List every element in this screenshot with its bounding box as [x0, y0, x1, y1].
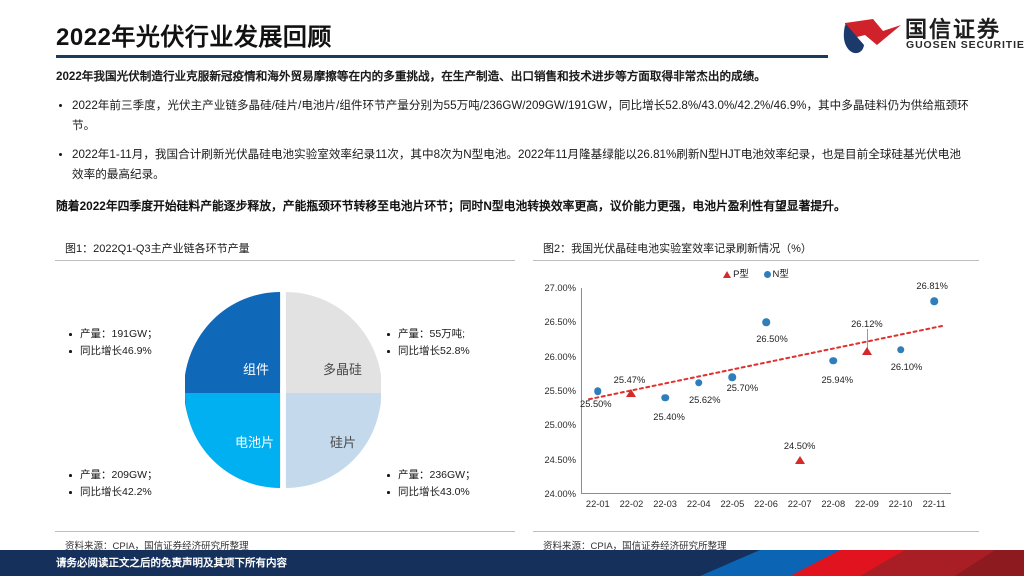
y-axis-tick: 24.00% [544, 489, 576, 499]
data-point-label: 25.62% [689, 395, 721, 405]
logo-text-en: GUOSEN SECURITIES [906, 39, 1024, 51]
callout-line: 产量：236GW； [385, 467, 476, 484]
data-point-n-type [897, 346, 905, 354]
pie-callout-bottom-left: 产量：209GW； 同比增长42.2% [67, 467, 158, 501]
data-point-label: 26.81% [916, 281, 948, 291]
triangle-marker-icon [723, 271, 731, 278]
legend-label-p: P型 [733, 269, 749, 280]
x-axis-tick: 22-11 [923, 499, 946, 509]
data-point-label: 26.12% [851, 319, 883, 329]
footer-disclaimer: 请务必阅读正文之后的免责声明及其项下所有内容 [56, 555, 287, 570]
callout-line: 同比增长42.2% [67, 484, 158, 501]
plot-area: 24.00%24.50%25.00%25.50%26.00%26.50%27.0… [581, 288, 951, 494]
x-axis-tick: 22-06 [754, 499, 778, 509]
x-axis-tick: 22-07 [788, 499, 812, 509]
slide-footer: 请务必阅读正文之后的免责声明及其项下所有内容 [0, 550, 1024, 576]
slide: 2022年光伏行业发展回顾 国信证券 GUOSEN SECURITIES 202… [0, 0, 1024, 576]
figure1-panel: 图1：2022Q1-Q3主产业链各环节产量 组件 多晶硅 电池片 硅片 [55, 236, 515, 554]
pie-slice-q1 [286, 292, 381, 387]
data-point-label: 24.50% [784, 441, 816, 451]
callout-line: 产量：55万吨; [385, 326, 470, 343]
pie-slice-q2 [185, 292, 280, 387]
data-point-label: 25.47% [614, 375, 646, 385]
y-axis-tick: 26.50% [544, 317, 576, 327]
divider [55, 260, 515, 261]
lead-paragraph: 2022年我国光伏制造行业克服新冠疫情和海外贸易摩擦等在内的多重挑战，在生产制造… [56, 68, 968, 85]
slide-header: 2022年光伏行业发展回顾 国信证券 GUOSEN SECURITIES [0, 0, 1024, 62]
x-axis-tick: 22-01 [586, 499, 610, 509]
divider [533, 260, 979, 261]
divider [55, 531, 515, 532]
legend-item-p: P型 [723, 269, 749, 280]
circle-marker-icon [764, 271, 771, 278]
list-item: 2022年前三季度，光伏主产业链多晶硅/硅片/电池片/组件环节产量分别为55万吨… [56, 96, 972, 136]
scatter-chart: P型 N型 24.00%24.50%25.00%25.50%26.00%26.5… [533, 262, 979, 530]
data-point-label: 25.70% [727, 383, 759, 393]
page-title: 2022年光伏行业发展回顾 [56, 17, 332, 52]
pie-svg [185, 292, 381, 488]
callout-line: 同比增长43.0% [385, 484, 476, 501]
pie-callout-bottom-right: 产量：236GW； 同比增长43.0% [385, 467, 476, 501]
y-axis-tick: 26.00% [544, 352, 576, 362]
bullet-list: 2022年前三季度，光伏主产业链多晶硅/硅片/电池片/组件环节产量分别为55万吨… [56, 96, 972, 194]
x-axis-tick: 22-08 [821, 499, 845, 509]
x-axis-tick: 22-09 [855, 499, 879, 509]
conclusion-paragraph: 随着2022年四季度开始硅料产能逐步释放，产能瓶颈环节转移至电池片环节；同时N型… [56, 198, 976, 216]
logo-mark-icon [843, 9, 901, 55]
callout-line: 同比增长52.8% [385, 343, 470, 360]
x-axis-tick: 22-03 [653, 499, 677, 509]
title-underline [56, 55, 828, 58]
y-axis-tick: 25.00% [544, 420, 576, 430]
data-point-label: 25.94% [821, 375, 853, 385]
callout-line: 产量：209GW； [67, 467, 158, 484]
legend-item-n: N型 [764, 269, 789, 280]
data-point-n-type [830, 357, 838, 365]
list-item: 2022年1-11月，我国合计刷新光伏晶硅电池实验室效率纪录11次，其中8次为N… [56, 145, 972, 185]
y-axis-tick: 27.00% [544, 283, 576, 293]
data-point-n-type [762, 319, 770, 327]
figure2-panel: 图2：我国光伏晶硅电池实验室效率记录刷新情况（%） P型 N型 24.00%24… [533, 236, 979, 554]
callout-line: 产量：191GW； [67, 326, 158, 343]
data-point-label: 26.50% [756, 334, 788, 344]
data-point-n-type [930, 297, 938, 305]
pie-slice-q4 [286, 393, 381, 488]
figure2-title: 图2：我国光伏晶硅电池实验室效率记录刷新情况（%） [543, 240, 812, 256]
pie-callout-top-left: 产量：191GW； 同比增长46.9% [67, 326, 158, 360]
data-point-label: 25.50% [580, 399, 612, 409]
data-point-n-type [695, 379, 703, 387]
callout-line: 同比增长46.9% [67, 343, 158, 360]
x-axis-tick: 22-10 [889, 499, 913, 509]
chart-legend: P型 N型 [533, 266, 979, 280]
figure1-title: 图1：2022Q1-Q3主产业链各环节产量 [65, 240, 250, 256]
data-point-n-type [661, 394, 669, 402]
divider [533, 531, 979, 532]
legend-label-n: N型 [773, 269, 789, 280]
data-point-p-type [862, 347, 872, 355]
data-point-label: 26.10% [891, 362, 923, 372]
y-axis-tick: 25.50% [544, 386, 576, 396]
data-point-n-type [729, 374, 737, 382]
label-leader-line [867, 329, 868, 349]
guosen-logo: 国信证券 GUOSEN SECURITIES [843, 9, 1013, 57]
data-point-n-type [594, 387, 602, 395]
data-point-label: 25.40% [653, 412, 685, 422]
x-axis-tick: 22-04 [687, 499, 711, 509]
x-axis-tick: 22-05 [720, 499, 744, 509]
pie-slice-q3 [185, 393, 280, 488]
pie-chart: 组件 多晶硅 电池片 硅片 产量：191GW； 同比增长46.9% 产量：55万… [55, 264, 515, 526]
pie-callout-top-right: 产量：55万吨; 同比增长52.8% [385, 326, 470, 360]
y-axis-tick: 24.50% [544, 455, 576, 465]
x-axis-tick: 22-02 [620, 499, 644, 509]
data-point-p-type [626, 389, 636, 397]
data-point-p-type [795, 456, 805, 464]
